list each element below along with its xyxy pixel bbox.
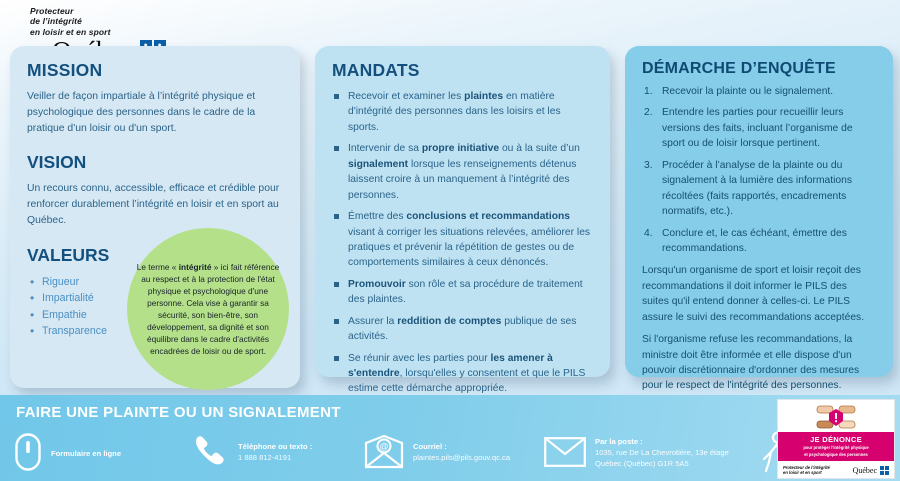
footer-title: FAIRE UNE PLAINTE OU UN SIGNALEMENT	[16, 404, 341, 421]
contact-email-value: plaintes.pils@pils.gouv.qc.ca	[413, 452, 510, 463]
hands-shield-icon	[813, 402, 859, 432]
badge-sub-line2: et psychologique des personnes	[780, 452, 892, 458]
contact-mail-text: Par la poste : 1035, rue De La Chevrotiè…	[595, 436, 729, 469]
contact-mail-value: 1035, rue De La Chevrotière, 13e étage	[595, 447, 729, 458]
integrity-definition-circle: Le terme « intégrité » ici fait référenc…	[127, 228, 289, 390]
list-item: Recevoir et examiner les plaintes en mat…	[332, 89, 593, 135]
badge-quebec-logo: Québec	[853, 466, 889, 475]
mission-title: MISSION	[27, 60, 283, 81]
badge-quebec-wordmark: Québec	[853, 466, 877, 475]
contact-mail-value2: Québec (Québec) G1R 5A5	[595, 458, 729, 469]
contact-phone[interactable]: Téléphone ou texto : 1 888 812-4191	[189, 432, 364, 472]
list-item: Procéder à l’analyse de la plainte ou du…	[642, 158, 876, 220]
vision-title: VISION	[27, 152, 283, 173]
demarche-title: DÉMARCHE D’ENQUÊTE	[642, 60, 876, 78]
contact-online-form-text: Formulaire en ligne	[51, 443, 121, 461]
contact-mail-label: Par la poste :	[595, 436, 729, 447]
badge-tagline-line2: en loisir et en sport	[783, 470, 830, 475]
badge-footer: Protecteur de l'intégrité en loisir et e…	[778, 461, 894, 476]
logo-tagline: Protecteur de l’intégrité en loisir et e…	[30, 6, 111, 37]
mouse-icon	[14, 432, 42, 472]
contact-email-text: Courriel : plaintes.pils@pils.gouv.qc.ca	[413, 441, 510, 463]
logo-tagline-line2: de l’intégrité	[30, 16, 111, 26]
list-item: Intervenir de sa propre initiative ou à …	[332, 141, 593, 203]
list-item: Assurer la reddition de comptes publique…	[332, 314, 593, 345]
list-item: Promouvoir son rôle et sa procédure de t…	[332, 277, 593, 308]
badge-main-text: JE DÉNONCE	[780, 435, 892, 444]
envelope-icon	[544, 437, 586, 467]
badge-sub-line1: pour protéger l'intégrité physique	[780, 445, 892, 451]
contact-phone-text: Téléphone ou texto : 1 888 812-4191	[238, 441, 312, 463]
svg-text:@: @	[379, 442, 388, 452]
list-item: Se réunir avec les parties pour les amen…	[332, 351, 593, 397]
mission-body: Veiller de façon impartiale à l’intégrit…	[27, 89, 283, 136]
contact-online-form-label: Formulaire en ligne	[51, 449, 121, 458]
demarche-paragraphs: Lorsqu'un organisme de sport et loisir r…	[642, 263, 876, 394]
integrity-definition-text: Le terme « intégrité » ici fait référenc…	[133, 261, 283, 357]
poster-root: Protecteur de l’intégrité en loisir et e…	[0, 0, 900, 481]
mandats-list: Recevoir et examiner les plaintes en mat…	[332, 89, 593, 397]
demarche-steps: Recevoir la plainte ou le signalement.En…	[642, 84, 876, 256]
badge-tagline: Protecteur de l'intégrité en loisir et e…	[783, 465, 830, 476]
contact-phone-label: Téléphone ou texto :	[238, 441, 312, 452]
list-item: Émettre des conclusions et recommandatio…	[332, 209, 593, 271]
list-item: Entendre les parties pour recueillir leu…	[642, 105, 876, 151]
contact-mail: Par la poste : 1035, rue De La Chevrotiè…	[544, 436, 759, 469]
panel-mandats: MANDATS Recevoir et examiner les plainte…	[315, 46, 610, 377]
logo-tagline-line1: Protecteur	[30, 6, 111, 16]
contact-email-label: Courriel :	[413, 441, 510, 452]
paragraph: Si l'organisme refuse les recommandation…	[642, 332, 876, 394]
list-item: Conclure et, le cas échéant, émettre des…	[642, 226, 876, 257]
badge-band: JE DÉNONCE pour protéger l'intégrité phy…	[778, 432, 894, 461]
phone-icon	[189, 432, 229, 472]
panel-demarche: DÉMARCHE D’ENQUÊTE Recevoir la plainte o…	[625, 46, 893, 377]
contact-online-form[interactable]: Formulaire en ligne	[14, 432, 189, 472]
vision-body: Un recours connu, accessible, efficace e…	[27, 181, 283, 228]
contact-phone-value: 1 888 812-4191	[238, 452, 312, 463]
je-denonce-badge[interactable]: JE DÉNONCE pour protéger l'intégrité phy…	[777, 399, 895, 479]
list-item: Recevoir la plainte ou le signalement.	[642, 84, 876, 99]
footer-band: FAIRE UNE PLAINTE OU UN SIGNALEMENT Form…	[0, 395, 900, 481]
mandats-title: MANDATS	[332, 60, 593, 81]
email-icon: @	[364, 435, 404, 469]
contact-list: Formulaire en ligne Téléphone ou texto :…	[14, 431, 900, 473]
badge-quebec-flag-icon	[880, 466, 889, 475]
contact-email[interactable]: @ Courriel : plaintes.pils@pils.gouv.qc.…	[364, 435, 544, 469]
paragraph: Lorsqu'un organisme de sport et loisir r…	[642, 263, 876, 325]
